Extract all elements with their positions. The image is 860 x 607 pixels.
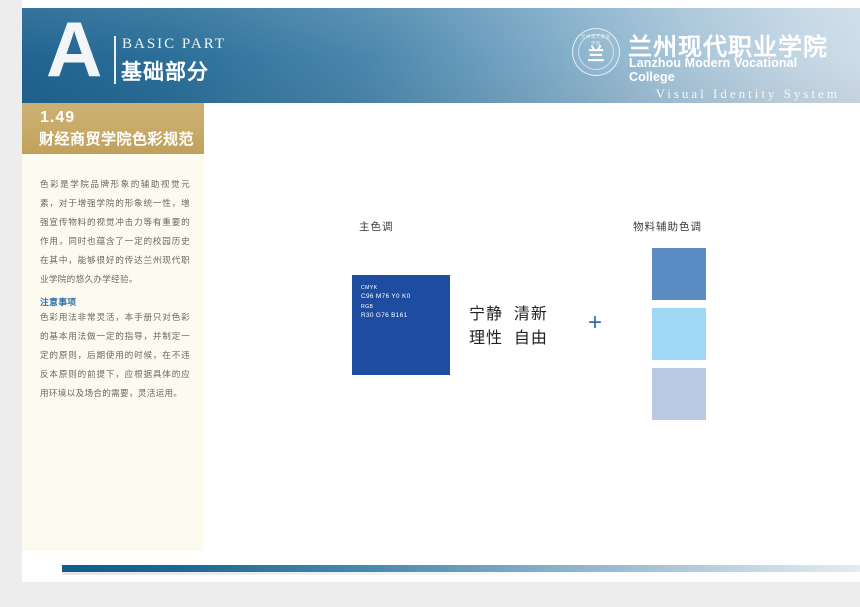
plus-icon: + [588, 311, 602, 335]
section-letter: A [46, 10, 100, 88]
section-heading: 财经商贸学院色彩规范 [39, 128, 194, 149]
auxiliary-color-swatch [652, 368, 706, 420]
page-sheet: A BASIC PART 基础部分 兰州现代职业学院 兰 兰州现代职业学院 La… [22, 0, 860, 582]
visual-identity-system-label: Visual Identity System [656, 86, 840, 102]
brand-keywords: 宁静 清新 理性 自由 [469, 303, 548, 351]
section-number: 1.49 [40, 109, 75, 127]
cmyk-value: C96 M76 Y0 K0 [361, 293, 411, 300]
rgb-value: R30 G76 B161 [361, 312, 407, 319]
rgb-label: RGB [361, 304, 373, 311]
auxiliary-color-swatch [652, 308, 706, 360]
footer-rule [62, 565, 860, 572]
sidebar-paragraph-1: 色彩是学院品牌形象的辅助视觉元素，对于增强学院的形象统一性，增强宣传物料的视觉冲… [40, 175, 190, 289]
section-title-cn: 基础部分 [121, 56, 209, 86]
primary-color-swatch: CMYK C96 M76 Y0 K0 RGB R30 G76 B161 [352, 275, 450, 375]
sidebar-note-heading: 注意事项 [40, 295, 76, 308]
sidebar-paragraph-2: 色彩用法非常灵活，本手册只对色彩的基本用法做一定的指导，并制定一定的原则，后期使… [40, 308, 190, 403]
section-title-box: 1.49 财经商贸学院色彩规范 [22, 103, 204, 154]
seal-glyph: 兰 [573, 29, 619, 75]
college-logo: 兰州现代职业学院 兰 兰州现代职业学院 Lanzhou Modern Vocat… [572, 28, 842, 76]
page-header: A BASIC PART 基础部分 兰州现代职业学院 兰 兰州现代职业学院 La… [22, 8, 860, 103]
section-title-en: BASIC PART [122, 36, 226, 53]
auxiliary-color-label: 物料辅助色调 [633, 219, 702, 234]
footer-rule-shadow [62, 572, 860, 575]
section-divider [114, 36, 116, 84]
auxiliary-color-swatch [652, 248, 706, 300]
primary-color-label: 主色调 [359, 219, 394, 234]
college-seal-icon: 兰州现代职业学院 兰 [572, 28, 620, 76]
cmyk-label: CMYK [361, 285, 377, 292]
college-name-en: Lanzhou Modern Vocational College [629, 56, 842, 84]
